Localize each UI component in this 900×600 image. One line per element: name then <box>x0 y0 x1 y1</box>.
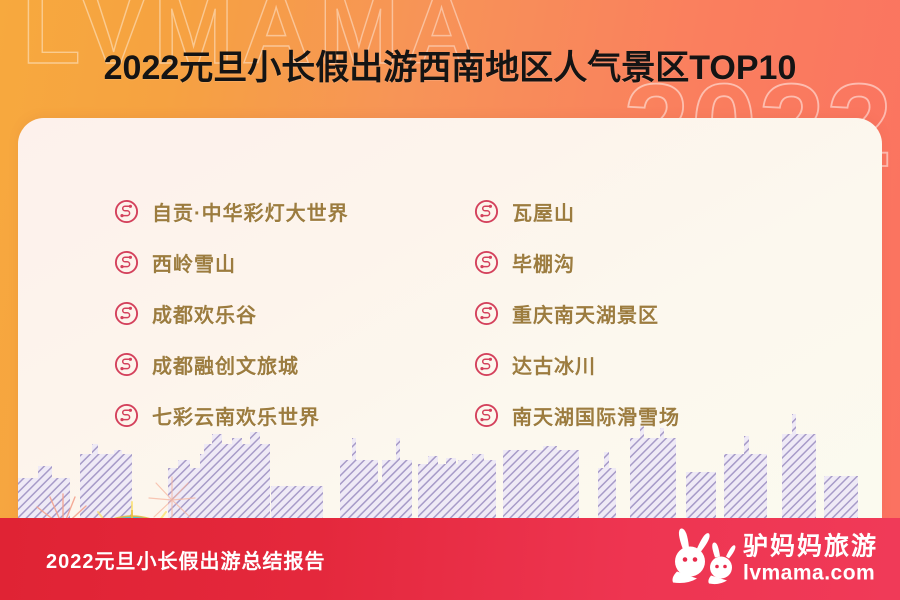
route-marker-icon <box>114 250 139 275</box>
attraction-name: 南天湖国际滑雪场 <box>512 401 680 430</box>
poster-root: LVMAMA 2022 2022元旦小长假出游西南地区人气景区TOP10 <box>0 0 900 600</box>
list-item[interactable]: 重庆南天湖景区 <box>474 288 882 339</box>
list-item[interactable]: 瓦屋山 <box>474 186 882 237</box>
list-item[interactable]: 南天湖国际滑雪场 <box>474 390 882 441</box>
list-item[interactable]: 达古冰川 <box>474 339 882 390</box>
attraction-name: 重庆南天湖景区 <box>512 299 659 328</box>
page-title: 2022元旦小长假出游西南地区人气景区TOP10 <box>0 40 900 89</box>
route-marker-icon <box>474 199 499 224</box>
attraction-column-right: 瓦屋山 毕棚沟 <box>450 186 882 518</box>
attraction-name: 毕棚沟 <box>512 248 575 277</box>
route-marker-icon <box>474 352 499 377</box>
attraction-name: 七彩云南欢乐世界 <box>152 401 320 430</box>
attraction-name: 成都欢乐谷 <box>152 299 257 328</box>
logo-wordmark: 驴妈妈旅游 lvmama.com <box>743 535 878 584</box>
attraction-name: 西岭雪山 <box>152 248 236 277</box>
route-marker-icon <box>474 250 499 275</box>
attraction-name: 自贡·中华彩灯大世界 <box>152 197 349 226</box>
route-marker-icon <box>114 199 139 224</box>
logo-cn-text: 驴妈妈旅游 <box>743 535 878 560</box>
route-marker-icon <box>114 403 139 428</box>
route-marker-icon <box>114 301 139 326</box>
route-marker-icon <box>114 352 139 377</box>
list-item[interactable]: 西岭雪山 <box>114 237 450 288</box>
lvmama-logo[interactable]: 驴妈妈旅游 lvmama.com <box>667 528 878 591</box>
list-item[interactable]: 毕棚沟 <box>474 237 882 288</box>
attraction-list: 自贡·中华彩灯大世界 西岭雪山 <box>18 118 882 518</box>
attraction-column-left: 自贡·中华彩灯大世界 西岭雪山 <box>18 186 450 518</box>
logo-en-text: lvmama.com <box>743 563 878 584</box>
route-marker-icon <box>474 301 499 326</box>
footer-bar: 2022元旦小长假出游总结报告 <box>0 518 900 600</box>
route-marker-icon <box>474 403 499 428</box>
list-item[interactable]: 自贡·中华彩灯大世界 <box>114 186 450 237</box>
two-rabbits-icon <box>667 528 739 591</box>
list-item[interactable]: 成都融创文旅城 <box>114 339 450 390</box>
attraction-name: 成都融创文旅城 <box>152 350 299 379</box>
list-item[interactable]: 成都欢乐谷 <box>114 288 450 339</box>
content-card: 自贡·中华彩灯大世界 西岭雪山 <box>18 118 882 518</box>
list-item[interactable]: 七彩云南欢乐世界 <box>114 390 450 441</box>
attraction-name: 瓦屋山 <box>512 197 575 226</box>
footer-title: 2022元旦小长假出游总结报告 <box>46 545 326 574</box>
attraction-name: 达古冰川 <box>512 350 596 379</box>
